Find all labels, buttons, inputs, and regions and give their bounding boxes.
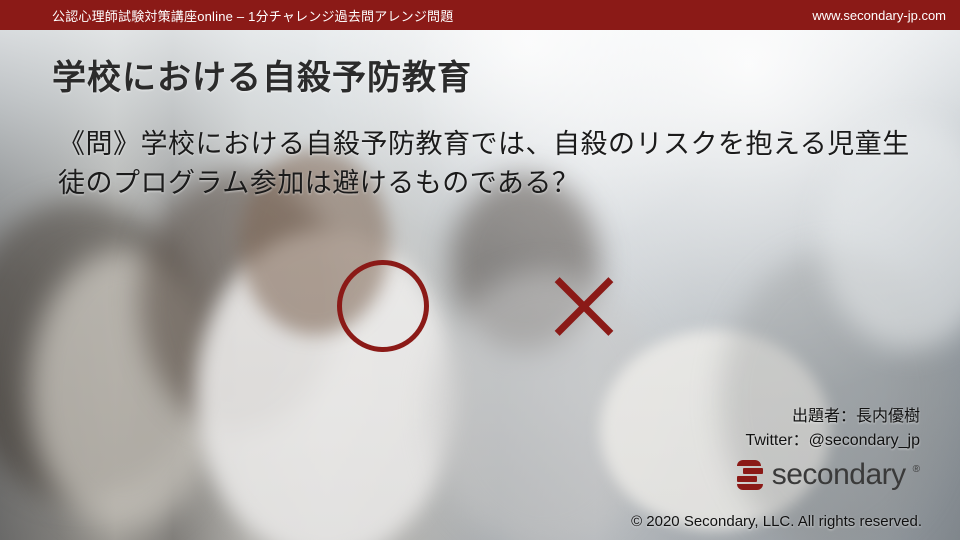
copyright-text: © 2020 Secondary, LLC. All rights reserv… [631,513,922,530]
page-title: 学校における自殺予防教育 [52,50,472,99]
website-url[interactable]: www.secondary-jp.com [812,8,946,23]
twitter-credit: Twitter：@secondary_jp [745,429,920,453]
slide-root: 公認心理師試験対策講座online – 1分チャレンジ過去問アレンジ問題 www… [0,0,960,540]
logo-bar [737,460,761,466]
credits: 出題者：長内優樹 Twitter：@secondary_jp [745,405,920,453]
logo-wordmark: secondary [772,458,906,492]
logo-bar [743,468,763,474]
logo-bar [737,476,757,482]
question-text: 《問》学校における自殺予防教育では、自殺のリスクを抱える児童生徒のプログラム参加… [58,125,918,203]
logo-bar [737,484,763,490]
header-bar: 公認心理師試験対策講座online – 1分チャレンジ過去問アレンジ問題 www… [0,0,960,30]
author-credit: 出題者：長内優樹 [745,405,920,429]
cross-answer-icon[interactable] [546,268,622,344]
secondary-logo-icon [737,458,765,492]
circle-answer-icon[interactable] [337,260,429,352]
course-title: 公認心理師試験対策講座online – 1分チャレンジ過去問アレンジ問題 [52,6,453,25]
secondary-logo: secondary ® [737,458,920,492]
registered-trademark-icon: ® [913,464,920,475]
